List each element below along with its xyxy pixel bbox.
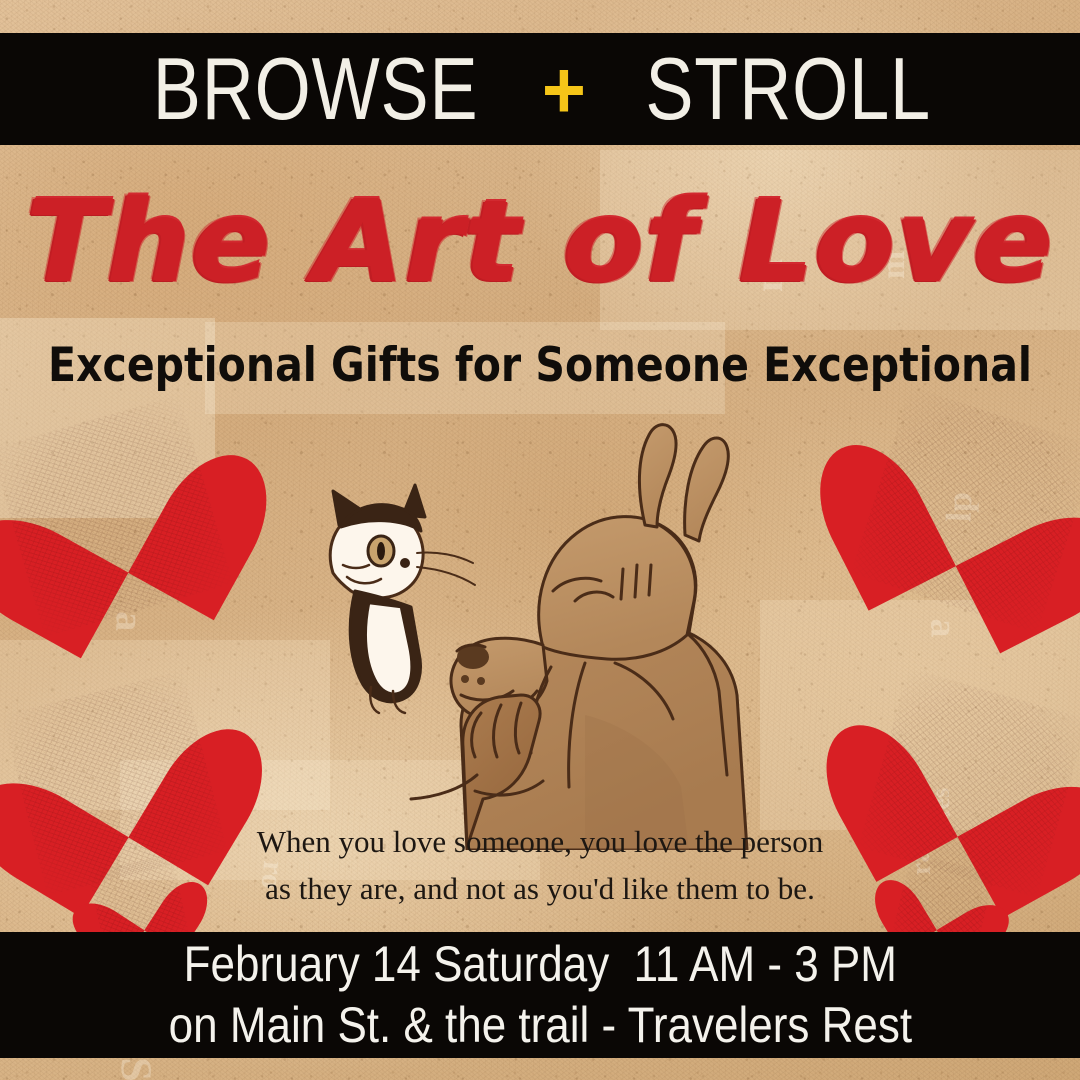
plus-icon: + [542,50,586,132]
dog-and-cat-illustration [285,395,775,850]
brand-lockup: BROWSE + STROLL [117,45,962,133]
event-location: on Main St. & the trail - Travelers Rest [168,995,911,1056]
brand-word-browse: BROWSE [153,45,479,133]
quote-line-2: as they are, and not as you'd like them … [0,865,1080,912]
quote-line-1: When you love someone, you love the pers… [0,818,1080,865]
brand-word-stroll: STROLL [646,45,932,133]
poster-canvas: alpammrorafesS BROWSE + STROLL The Art o… [0,0,1080,1080]
header-band: BROWSE + STROLL [0,33,1080,145]
footer-band: February 14 Saturday 11 AM - 3 PM on Mai… [0,932,1080,1058]
page-subtitle: Exceptional Gifts for Someone Exceptiona… [16,342,1064,389]
event-datetime: February 14 Saturday 11 AM - 3 PM [183,934,896,995]
title-container: The Art of Love [0,186,1080,298]
page-title: The Art of Love [26,186,1053,298]
love-quote: When you love someone, you love the pers… [0,818,1080,912]
